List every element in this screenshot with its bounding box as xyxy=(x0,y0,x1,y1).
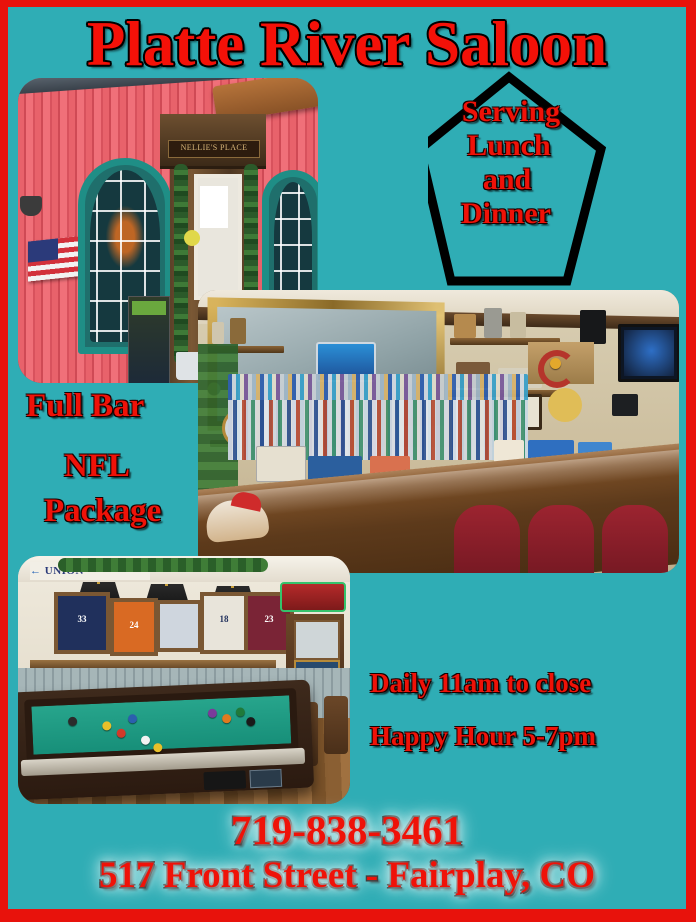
badge-line-serving: Serving xyxy=(428,95,594,129)
neon-beer-sign xyxy=(280,582,346,612)
nfl-label-line1: NFL xyxy=(64,447,130,485)
pool-ball xyxy=(236,707,245,716)
colorado-c xyxy=(538,350,576,388)
happy-hour-label: Happy Hour 5-7pm xyxy=(370,720,596,752)
ceiling-garland xyxy=(58,558,268,572)
address-label: 517 Front Street - Fairplay, CO xyxy=(8,855,686,897)
table-display xyxy=(249,769,282,788)
wall-map xyxy=(294,620,340,660)
framed-jersey: 18 xyxy=(200,592,248,654)
menu-card xyxy=(256,446,306,482)
tv-display xyxy=(624,330,674,376)
flag-canton xyxy=(28,238,58,262)
shelf-item xyxy=(212,322,224,344)
pool-room-photo: ← UNION CHAIRLIFT 4 33 24 18 23 xyxy=(18,556,350,804)
flyer-poster: Platte River Saloon xyxy=(0,0,696,922)
play-banner xyxy=(128,296,170,383)
tv-screen xyxy=(618,324,679,382)
left-arrow-icon: ← xyxy=(30,565,42,577)
badge-line-and: and xyxy=(428,163,586,197)
pool-ball xyxy=(222,714,231,723)
serving-badge: Serving Lunch and Dinner xyxy=(428,69,608,295)
wooden-barstool xyxy=(324,696,348,754)
framed-jersey xyxy=(156,600,202,652)
door-sign: NELLIE'S PLACE xyxy=(168,140,260,158)
phone-number: 719-838-3461 xyxy=(8,807,686,853)
pool-ball xyxy=(116,729,125,738)
bar-stool xyxy=(454,505,520,573)
wall-box xyxy=(612,394,638,416)
daily-hours-label: Daily 11am to close xyxy=(370,667,591,699)
eight-ball xyxy=(246,717,255,726)
bar-stool xyxy=(602,505,668,573)
coin-slot xyxy=(203,770,246,790)
shelf-item xyxy=(454,314,476,338)
cue-ball xyxy=(141,736,150,745)
speaker-icon xyxy=(580,310,606,344)
pool-ball xyxy=(68,717,77,726)
pool-table xyxy=(18,680,314,801)
yellow-ornament-icon xyxy=(184,230,200,246)
wall-lamp-icon xyxy=(20,196,42,216)
full-bar-label: Full Bar xyxy=(26,387,144,425)
framed-jersey: 33 xyxy=(54,592,110,654)
badge-line-dinner: Dinner xyxy=(428,197,584,231)
flyer-canvas: Platte River Saloon xyxy=(8,7,686,909)
badge-line-lunch: Lunch xyxy=(428,129,590,163)
shelf-item xyxy=(484,308,502,338)
framed-jersey: 24 xyxy=(110,598,158,656)
bar-interior-photo xyxy=(198,290,679,573)
nfl-label-line2: Package xyxy=(44,492,161,530)
colorado-flag-art xyxy=(528,342,594,384)
posted-paper xyxy=(200,186,228,228)
smiley-face-icon xyxy=(548,388,582,422)
pool-ball xyxy=(102,721,111,730)
garland-left xyxy=(174,164,188,364)
shelf-item xyxy=(230,318,246,344)
shelf-item xyxy=(510,312,526,338)
pool-ball xyxy=(128,714,137,723)
pool-ball xyxy=(208,709,217,718)
colorado-sun xyxy=(550,358,561,369)
banner-stripe xyxy=(132,301,166,315)
bar-stool xyxy=(528,505,594,573)
ledge-shelf xyxy=(30,660,276,668)
pool-ball xyxy=(153,743,162,752)
